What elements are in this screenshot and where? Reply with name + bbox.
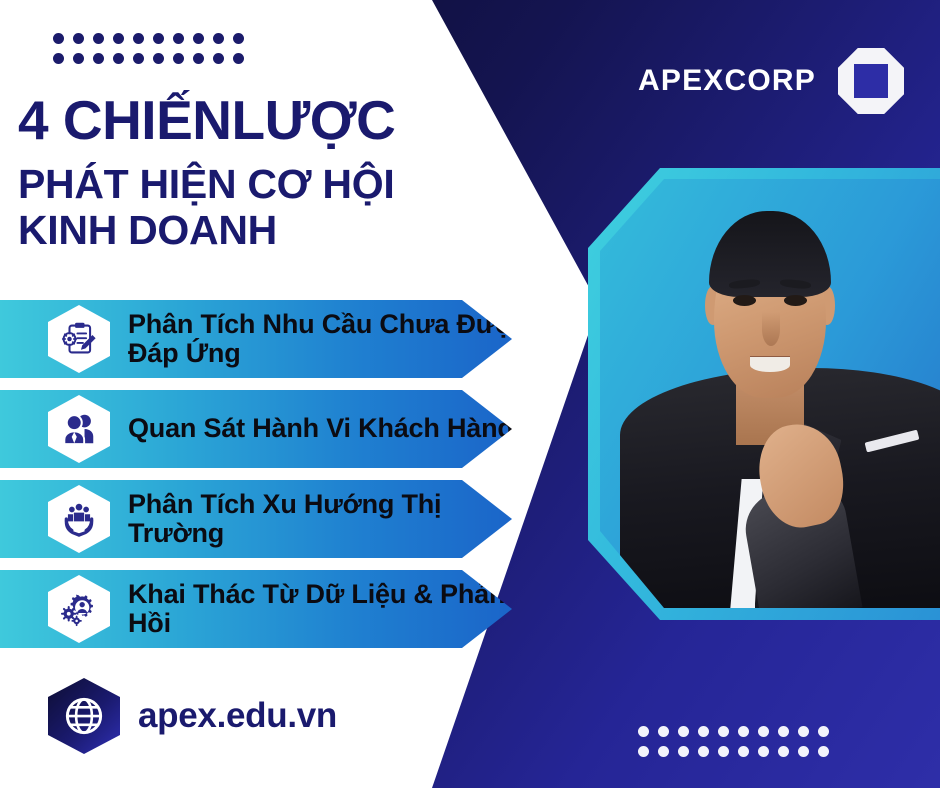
dot (718, 726, 729, 737)
hands-holding-people-icon (48, 485, 110, 553)
page-title: 4 CHIẾNLƯỢC (18, 92, 488, 148)
dot (133, 53, 144, 64)
portrait-eye-right (784, 295, 808, 306)
dot (153, 33, 164, 44)
dot (698, 746, 709, 757)
dot (213, 53, 224, 64)
headline-block: 4 CHIẾNLƯỢC PHÁT HIỆN CƠ HỘI KINH DOANH (18, 92, 488, 254)
dot (698, 726, 709, 737)
dot (173, 53, 184, 64)
dot (718, 746, 729, 757)
clipboard-gear-pencil-icon (48, 305, 110, 373)
dot-grid-top-left (53, 33, 244, 64)
dot (233, 53, 244, 64)
list-item-label: Phân Tích Xu Hướng Thị Trường (128, 490, 530, 548)
logo-inner-square (854, 64, 888, 98)
dot (53, 53, 64, 64)
dot (113, 33, 124, 44)
dot (658, 726, 669, 737)
list-item-label: Quan Sát Hành Vi Khách Hàng (128, 414, 514, 443)
dot (778, 746, 789, 757)
list-item-label: Khai Thác Từ Dữ Liệu & Phản Hồi (128, 580, 530, 638)
portrait-hair (709, 211, 831, 297)
dot (638, 746, 649, 757)
dot (233, 33, 244, 44)
website-url: apex.edu.vn (138, 696, 337, 736)
portrait-photo (588, 168, 940, 620)
dot (738, 746, 749, 757)
dot (73, 53, 84, 64)
dot (193, 33, 204, 44)
dot (638, 726, 649, 737)
list-item-label: Phân Tích Nhu Cầu Chưa Được Đáp Ứng (128, 310, 530, 368)
dot (758, 746, 769, 757)
dot (213, 33, 224, 44)
dot (758, 726, 769, 737)
gears-person-icon (48, 575, 110, 643)
strategy-list: Phân Tích Nhu Cầu Chưa Được Đáp Ứng Quan… (0, 300, 530, 660)
list-item[interactable]: Phân Tích Nhu Cầu Chưa Được Đáp Ứng (0, 300, 530, 378)
list-item[interactable]: Khai Thác Từ Dữ Liệu & Phản Hồi (0, 570, 530, 648)
dot (73, 33, 84, 44)
portrait-eye-left (733, 295, 757, 306)
brand-logo: APEXCORP (638, 48, 904, 114)
dot (798, 746, 809, 757)
photo-image (600, 179, 940, 608)
list-item[interactable]: Phân Tích Xu Hướng Thị Trường (0, 480, 530, 558)
page-subtitle: PHÁT HIỆN CƠ HỘI KINH DOANH (18, 162, 488, 254)
octagon-square-logo-icon (838, 48, 904, 114)
dot (678, 746, 689, 757)
dot (818, 726, 829, 737)
dot (678, 726, 689, 737)
dot (153, 53, 164, 64)
portrait-figure (600, 179, 940, 608)
dot (93, 33, 104, 44)
dot (53, 33, 64, 44)
dot (113, 53, 124, 64)
globe-icon (48, 678, 120, 754)
dot (818, 746, 829, 757)
dot (658, 746, 669, 757)
dot (93, 53, 104, 64)
website-badge[interactable]: apex.edu.vn (48, 678, 337, 754)
dot (133, 33, 144, 44)
brand-name: APEXCORP (638, 64, 816, 98)
two-people-icon (48, 395, 110, 463)
dot-grid-bottom-right (638, 726, 829, 757)
poster-canvas: APEXCORP 4 CHIẾNLƯỢC PHÁT HIỆN CƠ HỘI KI… (0, 0, 940, 788)
dot (778, 726, 789, 737)
portrait-mouth (750, 357, 791, 372)
dot (798, 726, 809, 737)
dot (738, 726, 749, 737)
list-item[interactable]: Quan Sát Hành Vi Khách Hàng (0, 390, 530, 468)
dot (173, 33, 184, 44)
dot (193, 53, 204, 64)
